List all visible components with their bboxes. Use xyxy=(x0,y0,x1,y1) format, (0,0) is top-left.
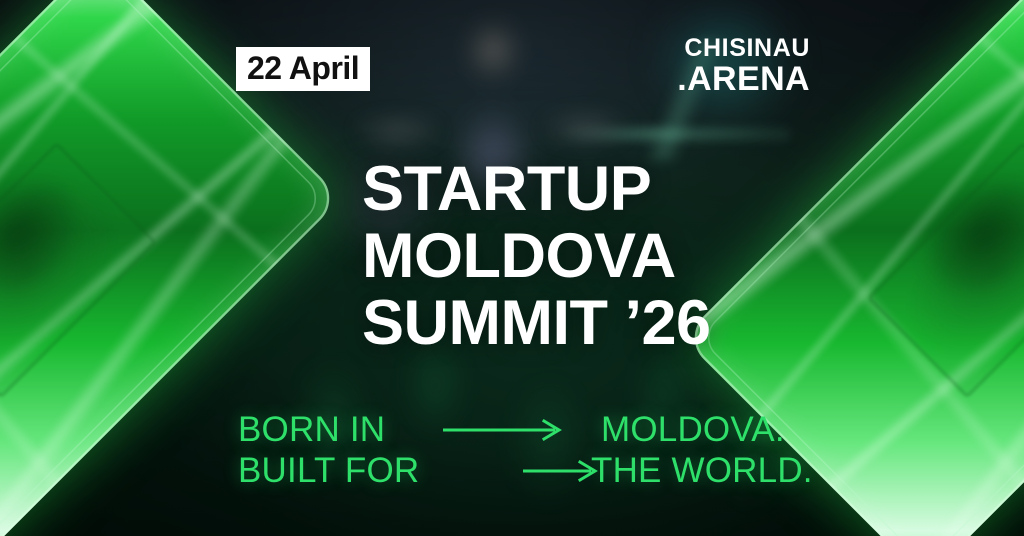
event-tagline: BORN IN MOLDOVA. BUILT FOR THE WORLD. xyxy=(238,409,813,491)
tagline-row-1-right: MOLDOVA. xyxy=(601,412,785,447)
venue-logo-line-1: CHISINAU xyxy=(677,36,810,61)
tagline-row-born-in: BORN IN MOLDOVA. xyxy=(238,409,813,450)
event-title-line-1: STARTUP xyxy=(362,158,711,221)
event-title-line-3: SUMMIT ’26 xyxy=(362,292,711,355)
long-arrow-right-icon xyxy=(443,418,601,442)
venue-logo: CHISINAU .ARENA xyxy=(677,36,810,96)
green-crystal-left xyxy=(0,0,244,536)
event-title-line-2: MOLDOVA xyxy=(362,225,711,288)
tagline-row-1-left: BORN IN xyxy=(238,412,443,447)
short-arrow-right-icon xyxy=(443,459,609,483)
green-crystal-right xyxy=(780,0,1024,536)
event-title: STARTUP MOLDOVA SUMMIT ’26 xyxy=(362,158,711,355)
date-badge: 22 April xyxy=(236,47,370,91)
tagline-row-2-left: BUILT FOR xyxy=(238,453,443,488)
tagline-row-2-right: THE WORLD. xyxy=(591,453,813,488)
event-poster: 22 April CHISINAU .ARENA STARTUP MOLDOVA… xyxy=(0,0,1024,536)
tagline-row-built-for: BUILT FOR THE WORLD. xyxy=(238,450,813,491)
venue-logo-line-2: .ARENA xyxy=(677,63,810,96)
